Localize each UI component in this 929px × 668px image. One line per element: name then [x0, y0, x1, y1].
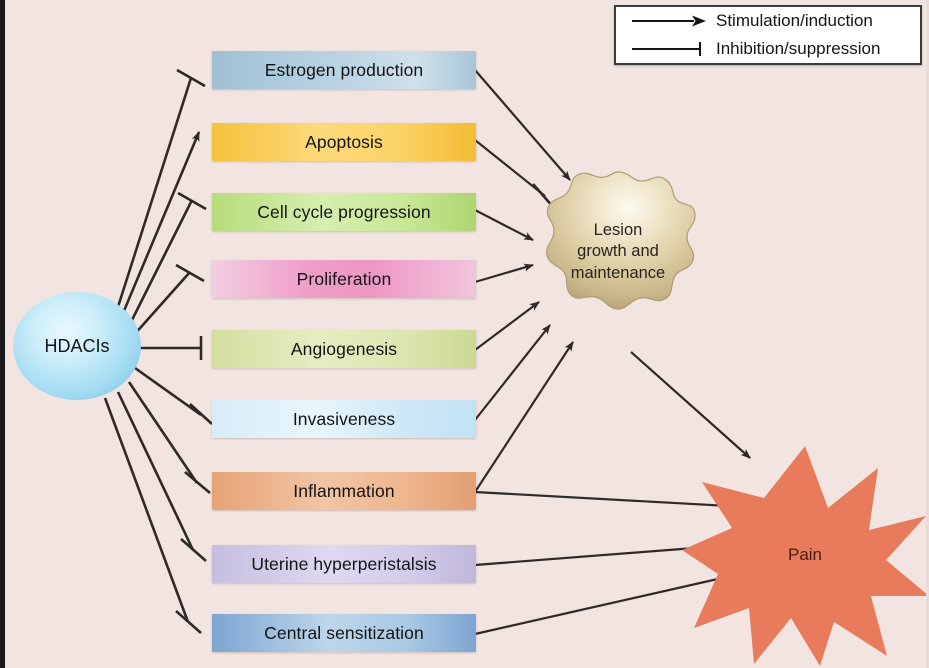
hdaci-tbars [176, 70, 212, 633]
node-uterine-hyperperistalsis[interactable]: Uterine hyperperistalsis [212, 545, 476, 583]
node-inflammation-label: Inflammation [293, 481, 394, 502]
tbar-invasiveness [190, 404, 212, 424]
node-estrogen-production[interactable]: Estrogen production [212, 51, 476, 89]
node-inflammation[interactable]: Inflammation [212, 472, 476, 510]
tbar-proliferation [176, 265, 204, 281]
wire-hdaci-central-sensitization [105, 398, 188, 622]
wire-cell-cycle-progression-lesion [475, 210, 533, 240]
wire-hdaci-inflammation [129, 382, 197, 483]
tbar-central-sensitization [176, 611, 201, 633]
node-pain-label: Pain [788, 545, 822, 565]
node-central-sensitization[interactable]: Central sensitization [212, 614, 476, 652]
node-proliferation-label: Proliferation [297, 269, 392, 290]
node-apoptosis-label: Apoptosis [305, 132, 383, 153]
wire-hdaci-apoptosis [121, 132, 199, 318]
wire-hdaci-proliferation [133, 272, 190, 336]
tbar-line-icon [628, 40, 710, 58]
node-hdacis-label: HDACIs [44, 336, 109, 357]
lesion-label-line-1: Lesion [571, 220, 665, 241]
node-lesion[interactable]: Lesion growth and maintenance [535, 168, 701, 336]
tbar-estrogen-production [177, 70, 205, 86]
node-pain[interactable]: Pain [680, 442, 929, 668]
node-proliferation[interactable]: Proliferation [212, 260, 476, 298]
wire-estrogen-production-lesion [475, 70, 570, 180]
wire-proliferation-lesion [475, 265, 533, 282]
diagram-canvas: HDACIs Estrogen production Apoptosis Cel… [0, 0, 929, 668]
tbar-inflammation [185, 472, 210, 493]
legend-item-inhibition: Inhibition/suppression [616, 35, 920, 63]
legend: Stimulation/induction Inhibition/suppres… [614, 5, 922, 65]
legend-label-inhibition: Inhibition/suppression [716, 39, 880, 59]
node-angiogenesis[interactable]: Angiogenesis [212, 330, 476, 368]
node-lesion-label: Lesion growth and maintenance [571, 220, 665, 283]
lesion-label-line-2: growth and [571, 241, 665, 262]
legend-label-stimulation: Stimulation/induction [716, 11, 873, 31]
wire-hdaci-invasiveness [135, 368, 201, 415]
node-central-sensitization-label: Central sensitization [264, 623, 424, 644]
wire-invasiveness-lesion [475, 325, 550, 420]
wire-angiogenesis-lesion [475, 302, 539, 350]
node-cell-cycle-progression-label: Cell cycle progression [257, 202, 430, 223]
tbar-uterine-hyperperistalsis [181, 539, 206, 561]
wire-hdaci-uterine-hyperperistalsis [118, 392, 193, 550]
node-hdacis[interactable]: HDACIs [13, 292, 141, 400]
node-invasiveness[interactable]: Invasiveness [212, 400, 476, 438]
arrow-line-icon [628, 12, 710, 30]
legend-item-stimulation: Stimulation/induction [616, 7, 920, 35]
tbar-cell-cycle-progression [178, 193, 206, 209]
node-invasiveness-label: Invasiveness [293, 409, 395, 430]
lesion-label-line-3: maintenance [571, 263, 665, 284]
node-angiogenesis-label: Angiogenesis [291, 339, 397, 360]
node-apoptosis[interactable]: Apoptosis [212, 123, 476, 161]
wire-inflammation-lesion [475, 342, 573, 492]
node-estrogen-production-label: Estrogen production [265, 60, 424, 81]
wire-hdaci-cell-cycle-progression [129, 200, 192, 326]
node-uterine-hyperperistalsis-label: Uterine hyperperistalsis [251, 554, 436, 575]
node-cell-cycle-progression[interactable]: Cell cycle progression [212, 193, 476, 231]
